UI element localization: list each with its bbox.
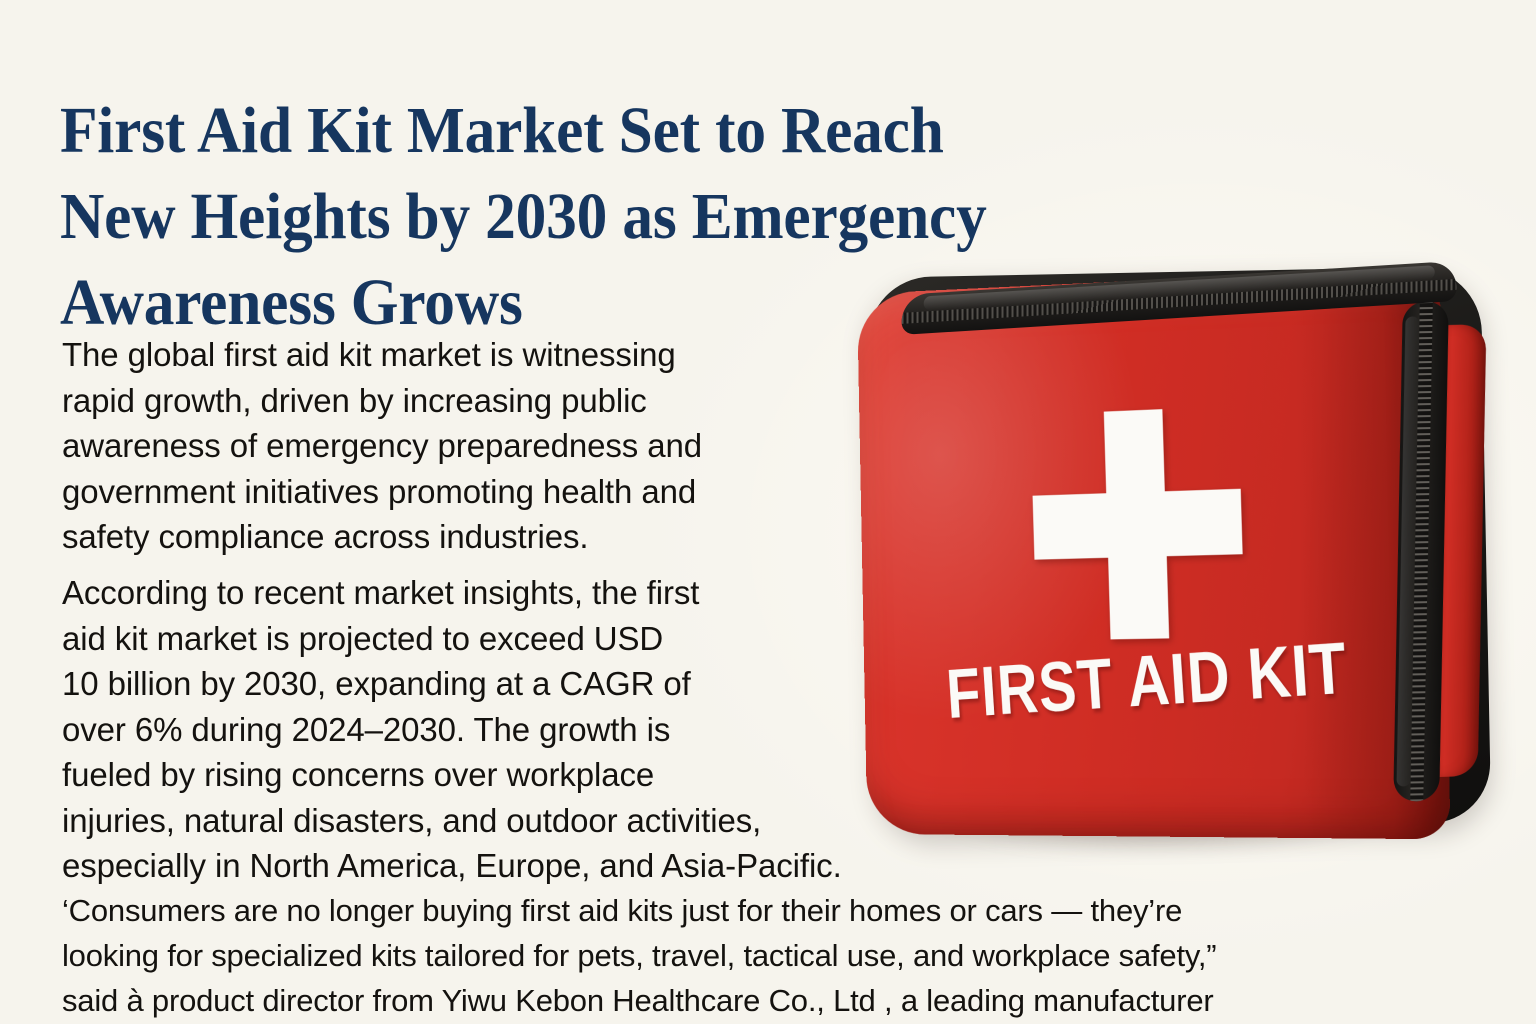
medical-cross-icon bbox=[1030, 406, 1245, 641]
headline-line-1: First Aid Kit Market Set to Reach bbox=[60, 88, 1306, 174]
paragraph-line: looking for specialized kits tailored fo… bbox=[62, 933, 1462, 978]
cross-horizontal-bar bbox=[1033, 489, 1243, 559]
paragraph-line: injuries, natural disasters, and outdoor… bbox=[62, 798, 952, 844]
paragraph-line: over 6% during 2024–2030. The growth is bbox=[62, 707, 952, 753]
paragraph-line: awareness of emergency preparedness and bbox=[62, 423, 782, 469]
paragraph-line-clipped: of first aid kits. bbox=[62, 1014, 1462, 1024]
paragraph-line: fueled by rising concerns over workplace bbox=[62, 752, 952, 798]
paragraph-line: 10 billion by 2030, expanding at a CAGR … bbox=[62, 661, 952, 707]
paragraph-line: The global first aid kit market is witne… bbox=[62, 332, 782, 378]
article-headline: First Aid Kit Market Set to Reach New He… bbox=[60, 88, 1306, 346]
article-paragraph-1: The global first aid kit market is witne… bbox=[62, 332, 782, 560]
zipper-right-icon bbox=[1393, 301, 1449, 802]
headline-line-2: New Heights by 2030 as Emergency bbox=[60, 174, 1306, 260]
paragraph-line: safety compliance across industries. bbox=[62, 514, 782, 560]
paragraph-line: especially in North America, Europe, and… bbox=[62, 843, 952, 889]
article-page: First Aid Kit Market Set to Reach New He… bbox=[0, 0, 1536, 1024]
paragraph-line: government initiatives promoting health … bbox=[62, 469, 782, 515]
paragraph-line: ‘Consumers are no longer buying first ai… bbox=[62, 888, 1462, 933]
article-paragraph-3-clipped-line: of first aid kits. bbox=[62, 1014, 1462, 1024]
paragraph-line: rapid growth, driven by increasing publi… bbox=[62, 378, 782, 424]
article-paragraph-2: According to recent market insights, the… bbox=[62, 570, 952, 889]
article-paragraph-3-quote: ‘Consumers are no longer buying first ai… bbox=[62, 888, 1462, 1023]
paragraph-line: aid kit market is projected to exceed US… bbox=[62, 616, 952, 662]
paragraph-line: According to recent market insights, the… bbox=[62, 570, 952, 616]
